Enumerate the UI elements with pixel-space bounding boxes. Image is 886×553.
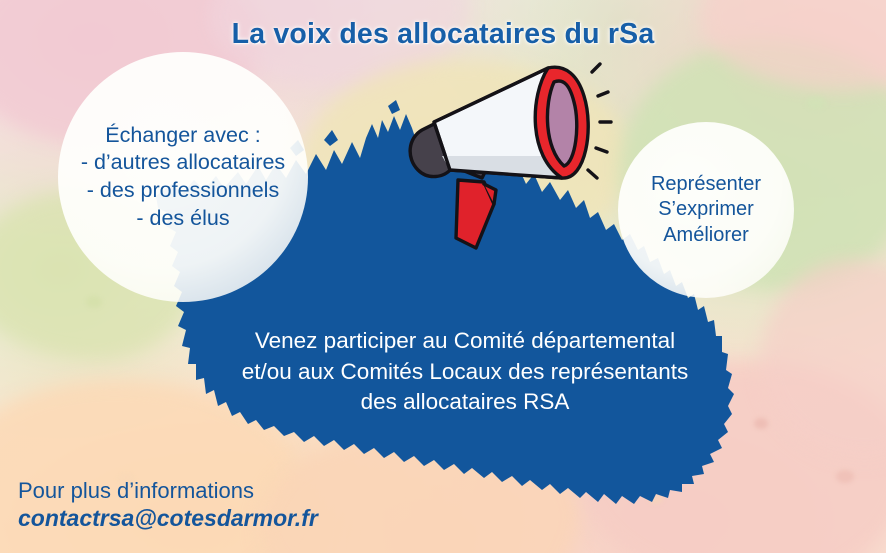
contact-intro-label: Pour plus d’informations xyxy=(18,478,318,503)
representer-bubble-text: Représenter S’exprimer Améliorer xyxy=(651,172,761,249)
speck-5 xyxy=(806,96,826,110)
map-message-text: Venez participer au Comité départemental… xyxy=(190,326,740,418)
speck-3 xyxy=(836,470,854,483)
page-title: La voix des allocataires du rSa xyxy=(0,18,886,51)
representer-bubble: Représenter S’exprimer Améliorer xyxy=(618,122,794,298)
megaphone-icon xyxy=(398,52,613,257)
echanger-bubble: Échanger avec : - d’autres allocataires … xyxy=(58,52,308,302)
contact-email-link[interactable]: contactrsa@cotesdarmor.fr xyxy=(18,505,318,533)
contact-block: Pour plus d’informations contactrsa@cote… xyxy=(18,478,318,533)
speck-1 xyxy=(86,296,102,308)
echanger-bubble-text: Échanger avec : - d’autres allocataires … xyxy=(81,122,285,232)
poster-canvas: La voix des allocataires du rSa Échanger… xyxy=(0,0,886,553)
